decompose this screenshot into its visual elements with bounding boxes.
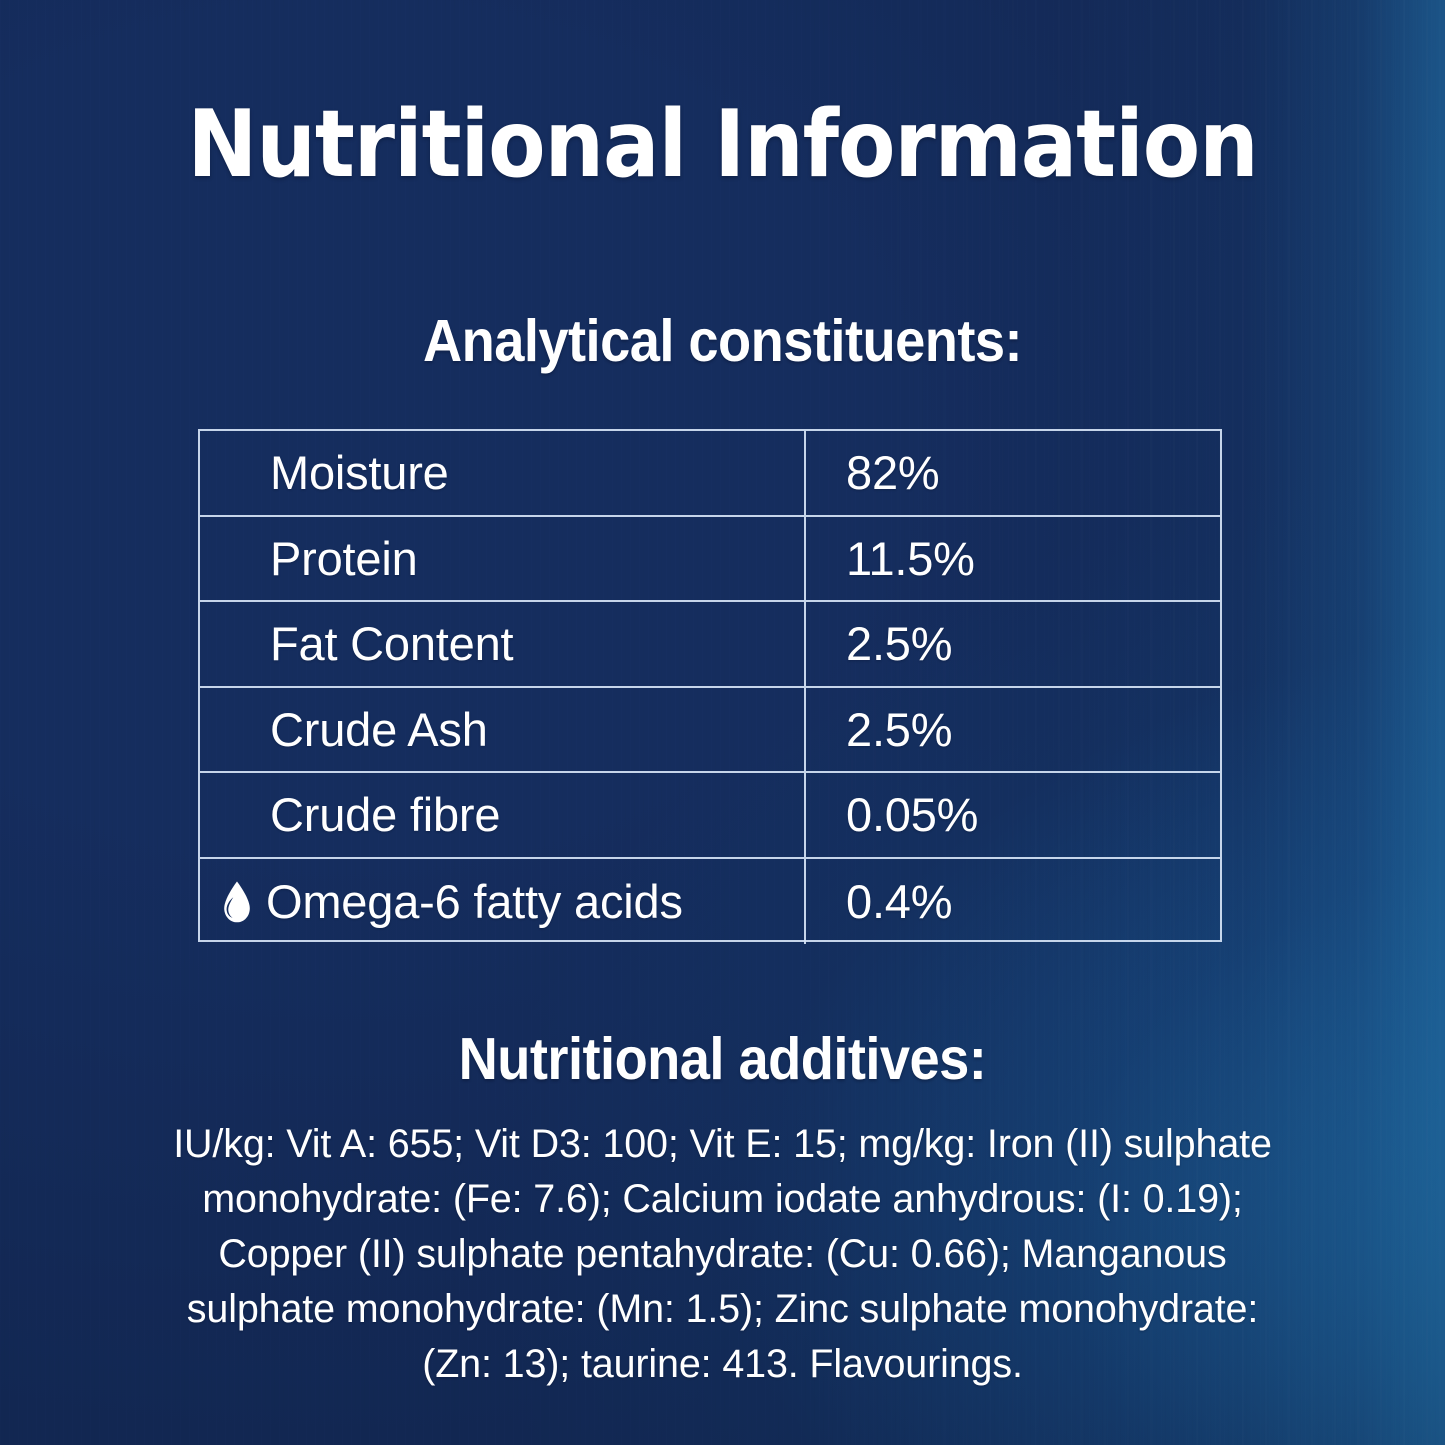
nutrition-label-panel: Nutritional Information Analytical const… [0,0,1445,1445]
table-row: Fat Content 2.5% [200,602,1220,688]
constituent-value: 82% [846,449,939,496]
table-row: Omega-6 fatty acids 0.4% [200,859,1220,945]
constituent-name: Crude fibre [270,791,500,838]
analytical-constituents-table: Moisture 82% Protein 11.5% Fat Content [198,429,1222,942]
table-row: Moisture 82% [200,431,1220,517]
constituent-name: Protein [270,535,418,582]
table-row: Protein 11.5% [200,517,1220,603]
table-cell-label: Crude Ash [200,688,806,772]
constituent-value: 0.4% [846,878,952,925]
table-cell-label: Protein [200,517,806,601]
table-cell-label: Fat Content [200,602,806,686]
table-cell-value: 0.4% [806,859,1220,945]
table-cell-label: Crude fibre [200,773,806,857]
analytical-constituents-heading: Analytical constituents: [58,312,1387,371]
constituent-value: 2.5% [846,706,952,753]
constituent-name: Crude Ash [270,706,488,753]
additives-line: (Zn: 13); taurine: 413. Flavourings. [95,1337,1350,1392]
constituent-name: Moisture [270,449,449,496]
table-cell-value: 82% [806,431,1220,515]
constituent-name: Fat Content [270,620,513,667]
constituent-value: 2.5% [846,620,952,667]
additives-line: monohydrate: (Fe: 7.6); Calcium iodate a… [95,1172,1350,1227]
nutritional-additives-text: IU/kg: Vit A: 655; Vit D3: 100; Vit E: 1… [95,1117,1350,1392]
table-row: Crude fibre 0.05% [200,773,1220,859]
water-drop-icon [222,881,252,923]
table-cell-value: 2.5% [806,602,1220,686]
table-cell-value: 11.5% [806,517,1220,601]
additives-line: IU/kg: Vit A: 655; Vit D3: 100; Vit E: 1… [95,1117,1350,1172]
additives-line: Copper (II) sulphate pentahydrate: (Cu: … [95,1227,1350,1282]
table-cell-label: Moisture [200,431,806,515]
table-cell-label: Omega-6 fatty acids [200,859,806,945]
nutritional-additives-heading: Nutritional additives: [58,1030,1387,1089]
content-layer: Nutritional Information Analytical const… [0,0,1445,1445]
table-row: Crude Ash 2.5% [200,688,1220,774]
constituent-value: 0.05% [846,791,978,838]
constituent-name: Omega-6 fatty acids [266,878,683,925]
page-title: Nutritional Information [72,96,1373,193]
additives-line: sulphate monohydrate: (Mn: 1.5); Zinc su… [95,1282,1350,1337]
constituent-value: 11.5% [846,535,975,582]
table-cell-value: 2.5% [806,688,1220,772]
table-cell-value: 0.05% [806,773,1220,857]
